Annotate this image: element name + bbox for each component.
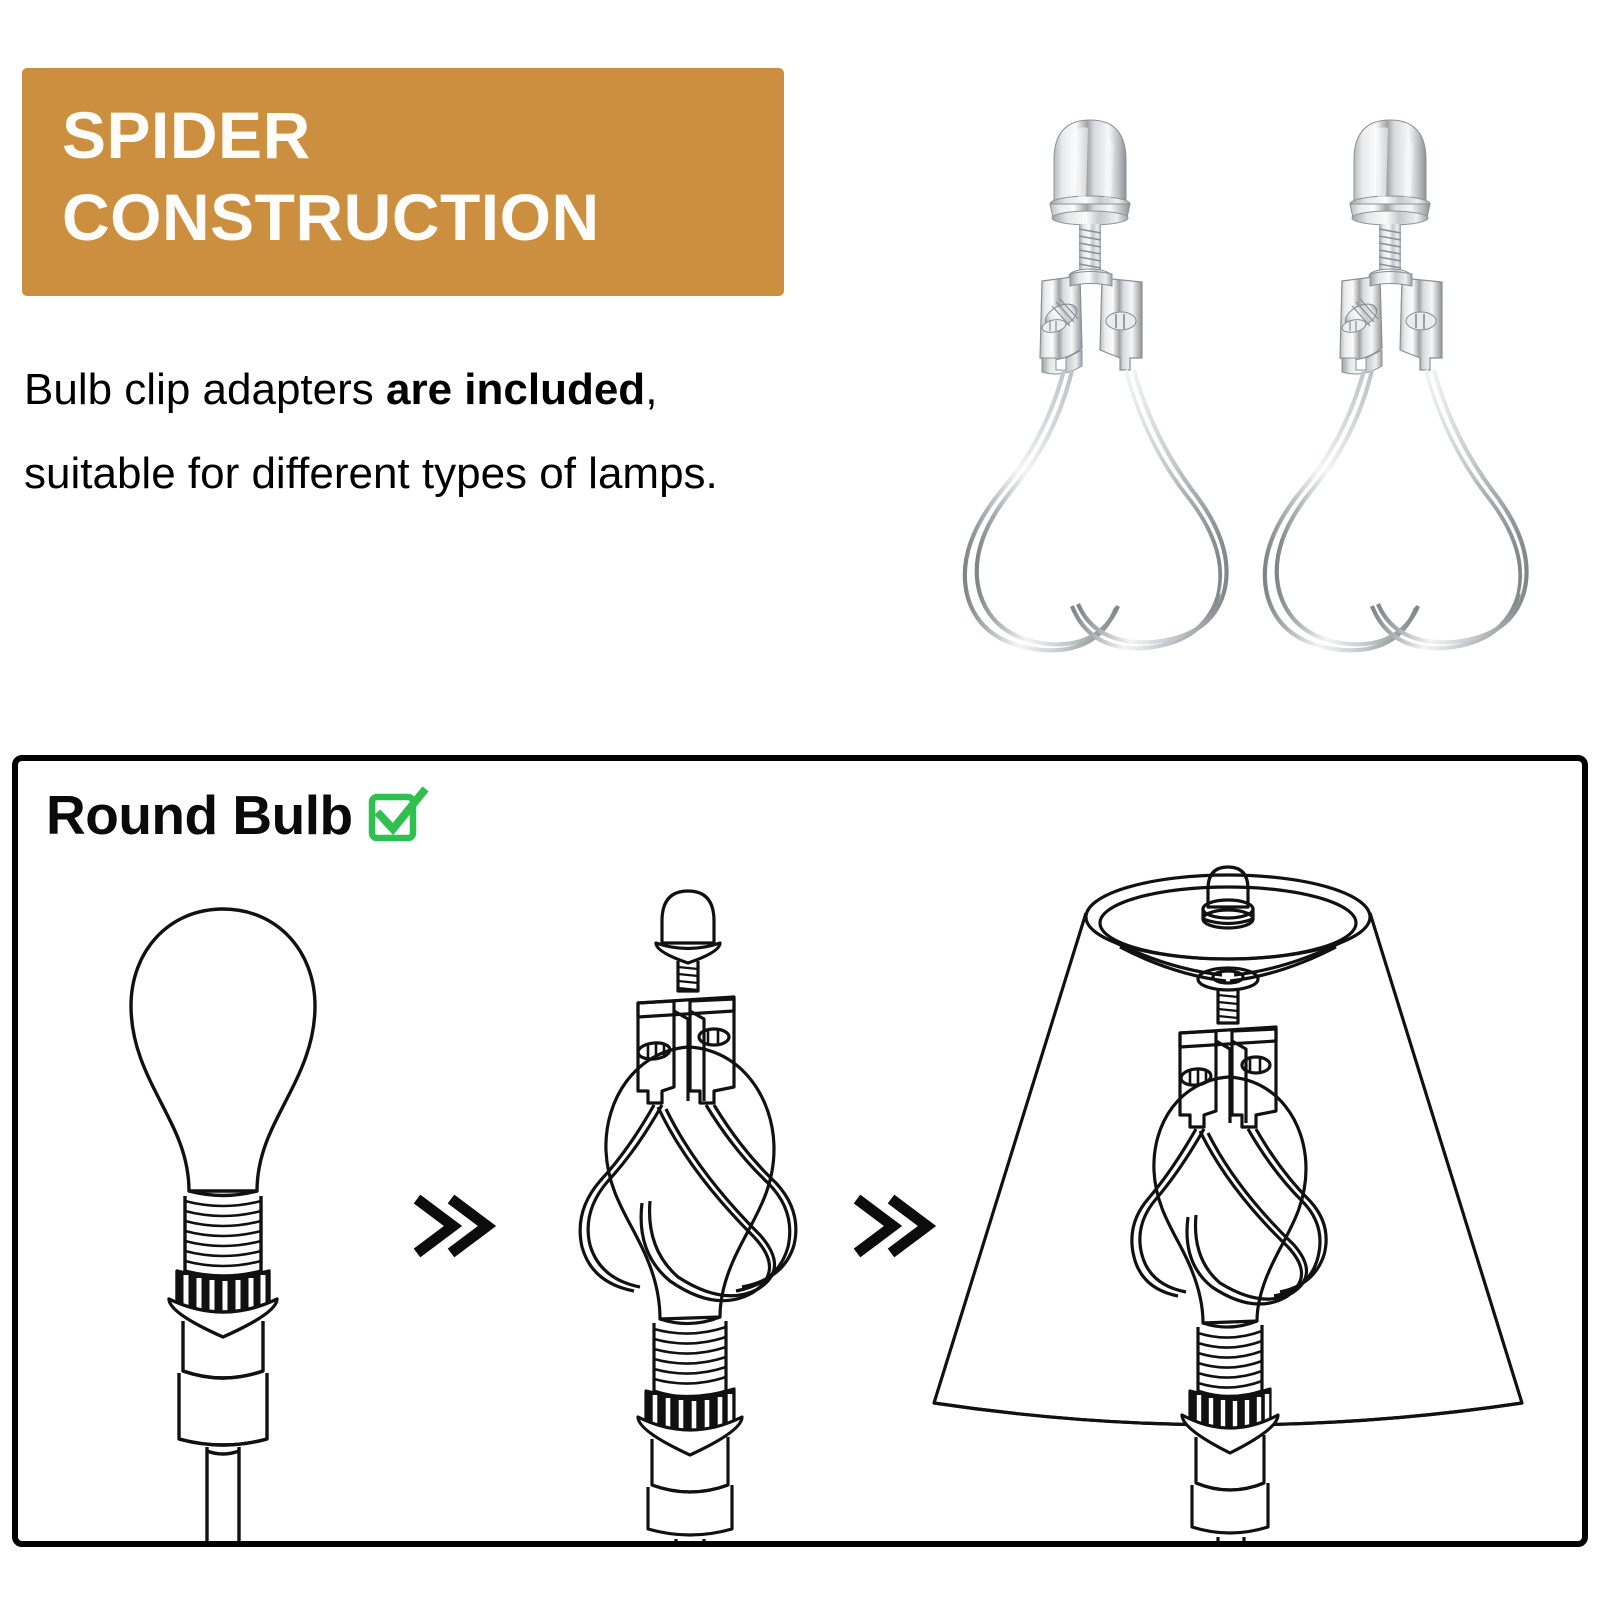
- product-infographic: SPIDER CONSTRUCTION Bulb clip adapters a…: [0, 0, 1600, 1600]
- step-2-clip-on-bulb: [538, 851, 838, 1541]
- step-1-round-bulb: [73, 851, 373, 1541]
- subtitle-line-2: suitable for different types of lamps.: [24, 432, 944, 516]
- finial-cap: [1050, 120, 1130, 225]
- clip-right-plate: [1400, 278, 1442, 370]
- step-arrow-1: [401, 1181, 491, 1271]
- check-square-icon: [367, 784, 429, 846]
- wire-loop-cage: [1265, 370, 1527, 650]
- clip-right-plate: [1100, 278, 1142, 370]
- subtitle-line-1-prefix: Bulb clip adapters: [24, 365, 386, 414]
- banner-text-block: SPIDER CONSTRUCTION: [62, 94, 762, 258]
- bulb-clip-adapter-photo-1: [930, 78, 1250, 658]
- subtitle-line-1: Bulb clip adapters are included,: [24, 348, 944, 432]
- top-section: SPIDER CONSTRUCTION Bulb clip adapters a…: [0, 0, 1600, 730]
- subtitle-block: Bulb clip adapters are included, suitabl…: [24, 348, 944, 516]
- banner-line-1: SPIDER: [62, 94, 762, 176]
- title-banner: SPIDER CONSTRUCTION: [22, 68, 784, 296]
- steps-row: [18, 851, 1582, 1541]
- round-bulb-label: Round Bulb: [46, 783, 353, 847]
- bulb-clip-adapter-photo-2: [1230, 78, 1550, 658]
- finial-cap: [1350, 120, 1430, 225]
- subtitle-line-1-suffix: ,: [645, 365, 657, 414]
- round-bulb-heading: Round Bulb: [46, 783, 429, 847]
- wire-loop-cage: [965, 370, 1227, 650]
- banner-line-2: CONSTRUCTION: [62, 176, 762, 258]
- subtitle-line-1-bold: are included: [386, 365, 645, 414]
- round-bulb-panel: Round Bulb: [12, 755, 1588, 1547]
- clip-left-plate: [1040, 276, 1082, 374]
- step-3-lampshade-mounted: [898, 851, 1558, 1541]
- clip-left-plate: [1340, 276, 1382, 374]
- clip-adapter-photo-group: [930, 78, 1570, 658]
